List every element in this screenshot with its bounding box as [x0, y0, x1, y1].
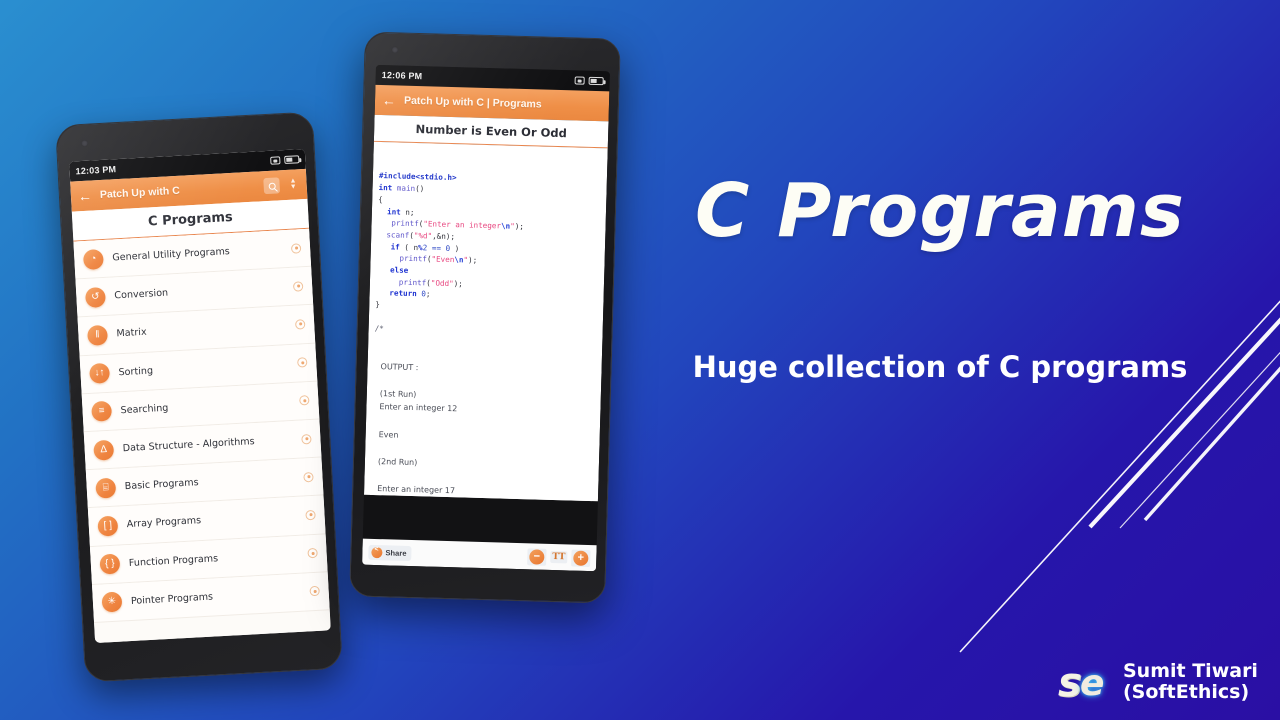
zoom-out-button[interactable]: − — [527, 548, 546, 566]
pointer-programs-icon: ✳ — [101, 592, 122, 613]
app-bar-title: Patch Up with C — [100, 181, 256, 201]
searching-icon: ≡ — [91, 401, 112, 422]
back-arrow-icon[interactable]: ← — [78, 189, 93, 204]
text-size-button[interactable]: TT — [550, 551, 567, 563]
brand-line-1: Sumit Tiwari — [1123, 661, 1258, 682]
phone-right: 12:06 PM ← Patch Up with C | Programs Nu… — [349, 32, 621, 604]
chevron-right-icon — [305, 510, 316, 521]
chevron-right-icon — [295, 319, 306, 330]
chevron-right-icon — [309, 586, 320, 597]
promo-subtitle: Huge collection of C programs — [640, 350, 1240, 384]
list-item-label: Basic Programs — [124, 472, 294, 492]
function-programs-icon: { } — [99, 554, 120, 575]
brand-logo: s e Sumit Tiwari (SoftEthics) — [1058, 660, 1258, 704]
search-icon[interactable] — [263, 177, 280, 194]
chevron-right-icon — [299, 395, 310, 406]
brand-line-2: (SoftEthics) — [1123, 682, 1258, 703]
battery-icon — [589, 77, 604, 85]
chevron-right-icon — [291, 243, 302, 254]
sorting-icon: ↓↑ — [89, 363, 110, 384]
bottom-toolbar: Share − TT + — [362, 539, 597, 572]
app-bar-title: Patch Up with C | Programs — [404, 95, 602, 113]
algorithms-icon: Δ — [93, 439, 114, 460]
array-programs-icon: [ ] — [97, 515, 118, 536]
back-arrow-icon[interactable]: ← — [382, 93, 396, 107]
screenshot-icon — [270, 156, 280, 165]
list-item-label: Matrix — [116, 320, 286, 340]
battery-icon — [284, 155, 299, 164]
chevron-right-icon — [293, 281, 304, 292]
brand-text: Sumit Tiwari (SoftEthics) — [1123, 661, 1258, 703]
phone-left: 12:03 PM ← Patch Up with C ▲▼ C Programs… — [55, 111, 343, 682]
matrix-icon: ‖ — [87, 325, 108, 346]
list-item-label: Conversion — [114, 282, 284, 302]
phone-right-screen: 12:06 PM ← Patch Up with C | Programs Nu… — [362, 65, 610, 571]
screenshot-icon — [575, 76, 585, 84]
front-camera-icon — [391, 46, 398, 53]
share-button-label: Share — [385, 548, 406, 558]
chevron-right-icon — [303, 472, 314, 483]
zoom-in-icon: + — [573, 550, 588, 565]
list-item-label: General Utility Programs — [112, 243, 282, 263]
code-viewer[interactable]: #include<stdio.h>int main(){ int n; prin… — [364, 142, 608, 501]
utility-icon: ◔ — [83, 249, 104, 270]
list-item-label: Searching — [120, 396, 290, 416]
chevron-right-icon — [307, 548, 318, 559]
chevron-right-icon — [297, 357, 308, 368]
front-camera-icon — [81, 140, 88, 147]
list-item-label: Function Programs — [129, 548, 299, 568]
logo-letter-e: e — [1080, 663, 1104, 704]
basic-programs-icon: ⌸ — [95, 477, 116, 498]
program-output: OUTPUT : (1st Run) Enter an integer 12 E… — [369, 358, 596, 502]
sort-icon[interactable]: ▲▼ — [286, 178, 300, 191]
share-icon — [371, 546, 382, 557]
logo-letter-s: s — [1058, 660, 1082, 706]
status-time: 12:06 PM — [382, 70, 423, 81]
program-category-list[interactable]: ◔General Utility Programs↺Conversion‖Mat… — [73, 229, 330, 643]
conversion-icon: ↺ — [85, 287, 106, 308]
text-size-icon: TT — [552, 552, 565, 562]
status-time: 12:03 PM — [75, 164, 116, 176]
share-button[interactable]: Share — [368, 544, 412, 560]
zoom-in-button[interactable]: + — [571, 549, 590, 567]
page-title: C Programs — [640, 168, 1240, 254]
code-lines: #include<stdio.h>int main(){ int n; prin… — [374, 170, 600, 340]
list-item-label: Data Structure - Algorithms — [122, 434, 292, 454]
softethics-logo-icon: s e — [1058, 660, 1114, 704]
list-item-label: Array Programs — [127, 510, 297, 530]
chevron-right-icon — [301, 434, 312, 445]
list-item-label: Pointer Programs — [131, 587, 301, 607]
zoom-out-icon: − — [529, 549, 544, 564]
phone-left-screen: 12:03 PM ← Patch Up with C ▲▼ C Programs… — [69, 149, 331, 643]
promo-column: C Programs Huge collection of C programs — [640, 0, 1280, 720]
list-item-label: Sorting — [118, 358, 288, 378]
